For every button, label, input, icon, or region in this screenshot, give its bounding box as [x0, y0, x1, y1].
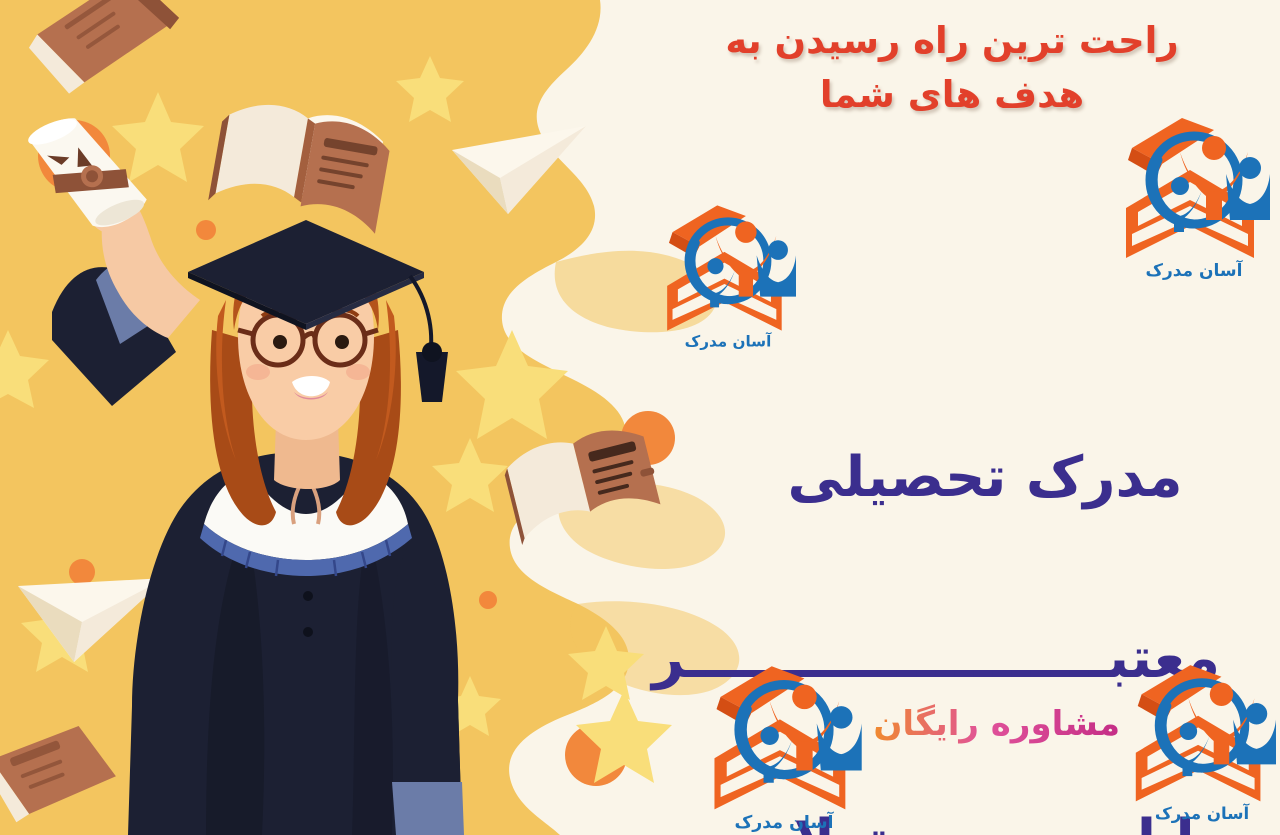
brand-logo: آسان مدرک: [1128, 654, 1276, 830]
logo-bottom-right: آسان مدرک: [1128, 654, 1276, 830]
logo-caption: آسان مدرک: [734, 811, 834, 833]
logo-middle-left: آسان مدرک: [660, 196, 796, 356]
promo-banner: راحت ترین راه رسیدن به هدف های شما مدرک …: [0, 0, 1280, 835]
sleeve-cuff: [392, 782, 464, 835]
graduate-illustration: [0, 0, 560, 835]
brand-logo: آسان مدرک: [704, 656, 864, 835]
cheek: [246, 364, 270, 380]
eye: [273, 335, 287, 349]
brand-logo: آسان مدرک: [1118, 108, 1270, 286]
logo-caption: آسان مدرک: [685, 332, 772, 351]
logo-bottom-left: آسان مدرک: [704, 656, 864, 835]
main-message-line-1: مدرک تحصیلی: [750, 433, 1220, 524]
tassel-knot: [422, 342, 442, 362]
logo-caption: آسان مدرک: [1146, 259, 1244, 281]
logo-caption: آسان مدرک: [1155, 802, 1250, 823]
eye: [335, 335, 349, 349]
free-consultation-text: مشاوره رایگان: [873, 704, 1120, 744]
brand-logo: آسان مدرک: [660, 196, 796, 356]
logo-top-right: آسان مدرک: [1118, 108, 1270, 286]
cheek: [346, 364, 370, 380]
headline-text: راحت ترین راه رسیدن به هدف های شما: [652, 14, 1252, 122]
